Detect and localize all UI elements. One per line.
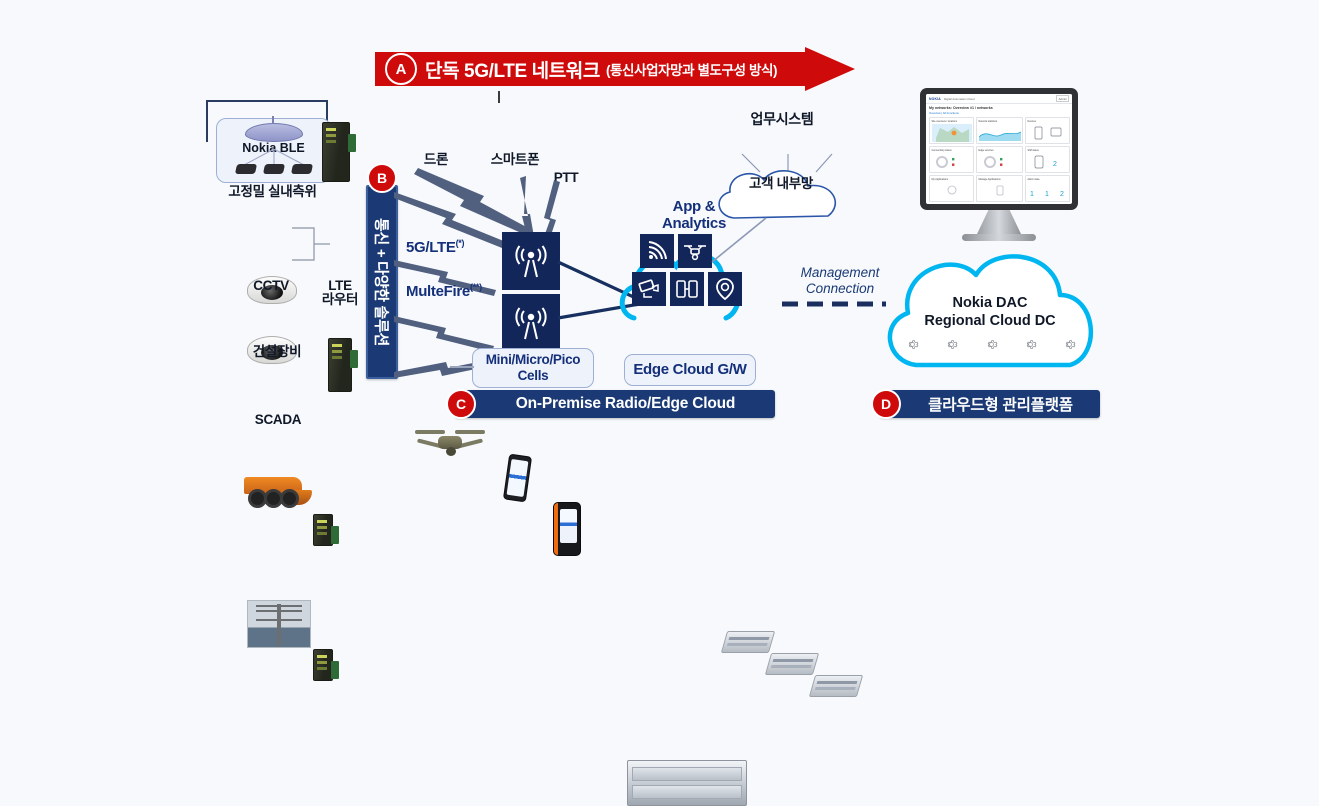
- wifi-signal-icon: [645, 239, 669, 263]
- badge-c: C: [446, 389, 476, 419]
- alarm-status-icon: [981, 154, 1019, 170]
- banner-a-subtitle: (통신사업자망과 별도구성 방식): [606, 59, 777, 79]
- dashboard-breadcrumb: Digital Automation Cloud: [944, 97, 975, 101]
- ble-tag-icon: [235, 164, 257, 174]
- lte-router-caption-line1: LTE: [312, 278, 368, 293]
- scada-pylon-icon: [247, 600, 311, 648]
- card-app-placeholder: [932, 181, 972, 201]
- construction-equipment-caption: 건설장비: [236, 344, 318, 359]
- monitor-screen[interactable]: NOKIA Digital Automation Cloud Admin My …: [926, 94, 1072, 204]
- radio-tower-tile: [502, 294, 560, 352]
- bar-d-label: 클라우드형 관리플랫폼: [928, 393, 1073, 415]
- svg-text:2: 2: [1053, 161, 1057, 168]
- radio-tower-tile: [502, 232, 560, 290]
- smartphone-icon: [503, 454, 532, 503]
- enterprise-server-icon: [809, 675, 863, 697]
- construction-equipment-icon: [238, 473, 314, 509]
- mini-micro-pico-cells-box: Mini/Micro/Pico Cells: [472, 348, 594, 388]
- enterprise-server-icon: [721, 631, 775, 653]
- card-device-tiles: [1028, 123, 1068, 143]
- dashboard-card[interactable]: SIM status 2: [1025, 146, 1070, 173]
- svg-text:2: 2: [1060, 191, 1064, 198]
- app-placeholder-icon: [991, 184, 1009, 198]
- two-phones-tile: [670, 272, 704, 306]
- dashboard-card[interactable]: Edge services: [976, 146, 1023, 173]
- dashboard-card[interactable]: My Applications: [929, 175, 974, 202]
- dashboard-account-button[interactable]: Admin: [1056, 95, 1069, 102]
- link-label-5g-lte: 5G/LTE(*): [406, 238, 516, 256]
- gear-icon: [945, 338, 958, 351]
- location-pin-icon: [712, 276, 738, 302]
- radio-tower-icon: [511, 303, 551, 343]
- svg-text:1: 1: [1030, 191, 1034, 198]
- gear-icon: [1063, 338, 1076, 351]
- dashboard-title: My networks: Overview #1 / networks: [929, 106, 1069, 110]
- badge-b: B: [367, 163, 397, 193]
- dashboard-card[interactable]: Manage Applications: [976, 175, 1023, 202]
- lte-router-icon: [328, 338, 352, 392]
- edge-cloud-gw-label: Edge Cloud G/W: [633, 361, 746, 378]
- location-pin-tile: [708, 272, 742, 306]
- dashboard-card[interactable]: Network statistics: [976, 117, 1023, 144]
- ptt-radio-icon: [553, 502, 581, 556]
- card-sim-count: 2: [1028, 152, 1068, 172]
- dashboard-card-grid: Site overview / locations Network statis…: [926, 117, 1072, 202]
- ble-beacon-icon: [245, 123, 303, 142]
- dashboard-header: NOKIA Digital Automation Cloud Admin: [926, 94, 1072, 104]
- cells-line2: Cells: [486, 368, 581, 384]
- radio-tower-icon: [511, 241, 551, 281]
- cctv-to-router-lines: [292, 222, 330, 268]
- bar-b-label: 통신 + 다양한 솔루션: [372, 218, 393, 346]
- nokia-dac-label: Nokia DAC Regional Cloud DC: [890, 294, 1090, 330]
- nokia-ble-box: Nokia BLE: [216, 118, 331, 183]
- badge-a: A: [385, 53, 417, 85]
- area-chart-icon: [979, 125, 1021, 141]
- diagram-canvas: A 단독 5G/LTE 네트워크 (통신사업자망과 별도구성 방식) Nokia…: [0, 0, 1319, 470]
- ble-tag-icon: [291, 164, 313, 174]
- card-three-counters: 1 1 2: [1028, 181, 1068, 201]
- camera-tile: [632, 272, 666, 306]
- dashboard-card[interactable]: Devices: [1025, 117, 1070, 144]
- enterprise-systems-label: 업무시스템: [718, 112, 846, 128]
- bracket-left-vertical: [206, 100, 208, 142]
- sim-icon: 2: [1031, 154, 1065, 170]
- camera-icon: [636, 276, 662, 302]
- card-area-chart: [979, 123, 1021, 143]
- bar-c-on-premise: C On-Premise Radio/Edge Cloud: [455, 390, 775, 418]
- alarm-status-icon: [933, 154, 971, 170]
- lte-router-caption-line2: 라우터: [312, 292, 368, 307]
- cells-inlet-line: [450, 366, 474, 368]
- counters-icon: 1 1 2: [1028, 183, 1068, 199]
- device-icons: [1031, 125, 1065, 141]
- cells-line1: Mini/Micro/Pico: [486, 352, 581, 368]
- card-alarm-donut: [932, 152, 972, 172]
- app-placeholder-icon: [943, 184, 961, 198]
- nokia-logo: NOKIA: [929, 97, 941, 101]
- card-alarm-donut: [979, 152, 1021, 172]
- scada-caption: SCADA: [240, 412, 316, 427]
- dashboard-card[interactable]: Alarm state 1 1 2: [1025, 175, 1070, 202]
- banner-a-standalone-network: A 단독 5G/LTE 네트워크 (통신사업자망과 별도구성 방식): [375, 47, 855, 91]
- construction-router-icon: [313, 514, 333, 546]
- management-dashboard-monitor: NOKIA Digital Automation Cloud Admin My …: [920, 88, 1078, 248]
- monitor-bezel: NOKIA Digital Automation Cloud Admin My …: [920, 88, 1078, 210]
- bracket-top-horizontal: [206, 100, 328, 102]
- two-phones-icon: [674, 276, 700, 302]
- monitor-stand: [977, 210, 1021, 234]
- badge-d: D: [871, 389, 901, 419]
- cloud-to-edge-line: [702, 216, 772, 266]
- edge-server-icon: [627, 760, 747, 806]
- edge-cloud-gw-box: Edge Cloud G/W: [624, 354, 756, 386]
- map-icon: [932, 124, 972, 142]
- banner-a-title: 단독 5G/LTE 네트워크: [425, 56, 600, 83]
- card-map: [932, 123, 972, 143]
- dashboard-subtitle[interactable]: Overview | All Functions: [929, 111, 1069, 115]
- ble-caption: 고정밀 실내측위: [216, 184, 329, 199]
- bar-c-label: On-Premise Radio/Edge Cloud: [516, 395, 735, 413]
- svg-text:1: 1: [1045, 191, 1049, 198]
- gear-icon: [1024, 338, 1037, 351]
- monitor-base: [962, 234, 1036, 241]
- card-app-placeholder: [979, 181, 1021, 201]
- enterprise-server-icon: [765, 653, 819, 675]
- customer-network-label: 고객 내부망: [722, 176, 840, 191]
- ble-tag-icon: [263, 164, 285, 174]
- ble-router-icon: [322, 122, 350, 182]
- scada-router-icon: [313, 649, 333, 681]
- dashboard-card[interactable]: Site overview / locations: [929, 117, 974, 144]
- gear-icon: [985, 338, 998, 351]
- wifi-signal-tile: [640, 234, 674, 268]
- gear-icon: [906, 338, 919, 351]
- dac-gear-row: [906, 338, 1076, 351]
- banner-a-tick: [498, 91, 500, 103]
- cctv-caption: CCTV: [240, 278, 302, 293]
- dashboard-card[interactable]: Connectivity status: [929, 146, 974, 173]
- drone-icon: [415, 426, 485, 460]
- bar-d-cloud-platform: D 클라우드형 관리플랫폼: [880, 390, 1100, 418]
